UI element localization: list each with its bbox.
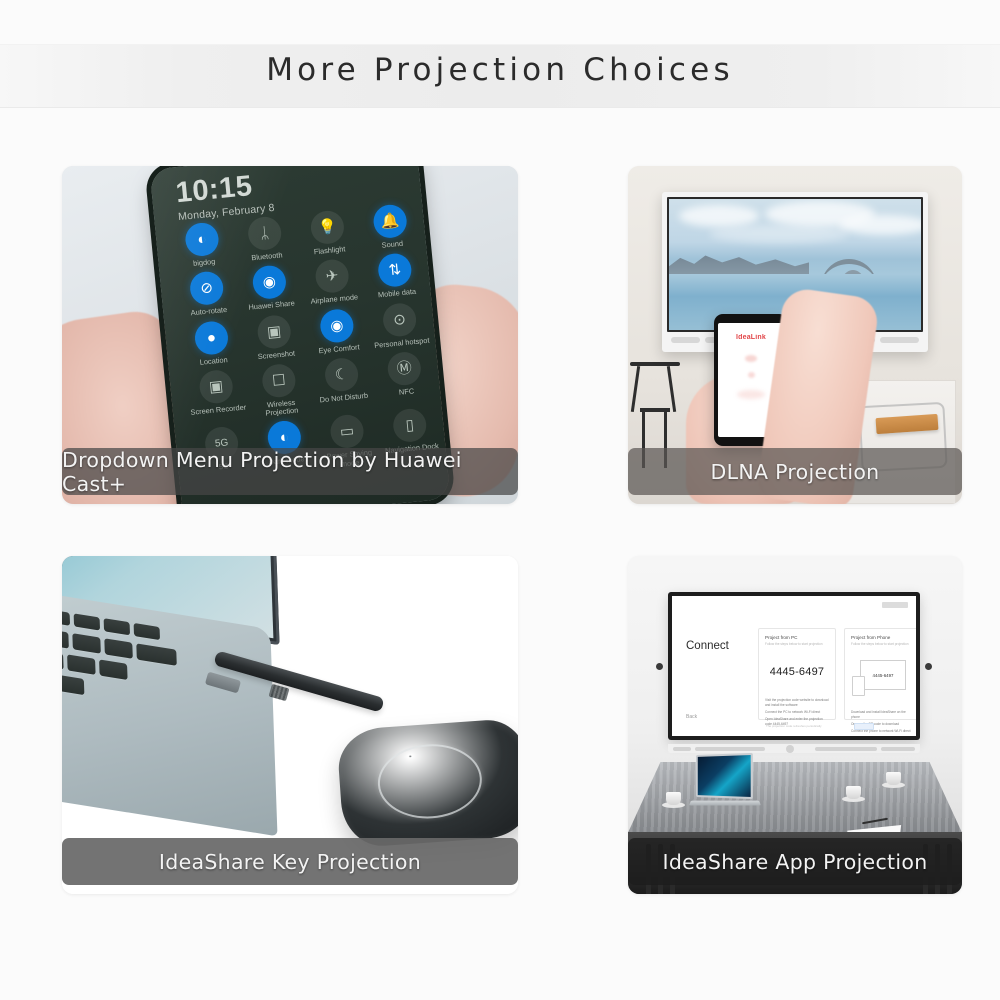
laptop-on-table	[694, 754, 762, 816]
toggle-label: Do Not Disturb	[315, 391, 374, 405]
ideashare-key-dongle[interactable]	[336, 718, 518, 849]
projection-code-diagram: 4445-6497	[860, 660, 906, 690]
toggle-label: Mobile data	[368, 287, 427, 301]
toggle-label: bigdog	[175, 256, 234, 270]
toggle-label: Auto-rotate	[180, 305, 239, 319]
step-item: Connect the phone to network Wi-Fi direc…	[851, 729, 915, 734]
app-content-blur	[737, 390, 765, 399]
flashlight-icon[interactable]: 💡	[309, 209, 345, 245]
hotspot-icon[interactable]: ⊙	[382, 301, 418, 337]
back-button[interactable]: Back	[686, 714, 697, 720]
quick-setting-toggle[interactable]: ▣ Screen Recorder	[183, 367, 251, 425]
interactive-flat-panel[interactable]: Connect Back Project from PC Follow the …	[668, 592, 920, 740]
connect-heading: Connect	[686, 640, 729, 652]
step-item: Connect the PC to network Wi-Fi direct	[765, 710, 829, 715]
panel-bottom-bar	[668, 744, 920, 753]
bluetooth-icon[interactable]: ᛦ	[247, 215, 283, 251]
quick-setting-toggle[interactable]: ▣ Screenshot	[241, 312, 308, 362]
diagram-code: 4445-6497	[873, 673, 894, 678]
quick-setting-toggle[interactable]: ◉ Eye Comfort	[304, 306, 371, 356]
toggle-label: Airplane mode	[305, 293, 364, 307]
screenshot-icon[interactable]: ▣	[256, 314, 292, 350]
quick-setting-toggle[interactable]: ⇅ Mobile data	[362, 251, 429, 301]
step-item: Download and install IdeaShare on the ph…	[851, 710, 915, 720]
toggle-label: NFC	[377, 385, 436, 399]
navigation-dock-icon[interactable]: ▯	[392, 408, 428, 444]
quick-setting-toggle[interactable]: ☐ Wireless Projection	[246, 361, 314, 419]
wireless-projection-icon[interactable]: ☐	[261, 363, 297, 399]
card-subtitle: Follow the steps below to start projecti…	[765, 642, 829, 646]
screen-recorder-icon[interactable]: ▣	[198, 369, 234, 405]
panel-side-knob-right[interactable]	[925, 663, 932, 670]
panel-ideashare-app-projection[interactable]: Connect Back Project from PC Follow the …	[628, 556, 962, 894]
nfc-icon[interactable]: Ⓜ	[386, 351, 422, 387]
quick-setting-toggle[interactable]: ⊙ Personal hotspot	[367, 300, 434, 350]
project-from-pc-card: Project from PC Follow the steps below t…	[758, 628, 836, 720]
toggle-label: Sound	[363, 238, 422, 252]
status-badge	[882, 602, 908, 608]
coffee-cup	[846, 786, 861, 799]
quick-settings-grid: ◐ bigdog ᛦ Bluetooth 💡 Flashlight 🔔 Soun…	[169, 202, 445, 483]
dongle-ring-button[interactable]	[375, 741, 484, 822]
panel-side-knob-left[interactable]	[656, 663, 663, 670]
app-logo: IdeaLink	[736, 334, 766, 341]
product-feature-page: More Projection Choices 10:15 Monday, Fe…	[0, 0, 1000, 1000]
toggle-label: Huawei Share	[242, 299, 301, 313]
connect-screen: Connect Back Project from PC Follow the …	[672, 596, 916, 736]
moon-icon[interactable]: ☾	[324, 357, 360, 393]
quick-setting-toggle[interactable]: ☾ Do Not Disturb	[309, 355, 377, 413]
toggle-label: Bluetooth	[238, 250, 297, 264]
toggle-label: Screenshot	[247, 348, 306, 362]
panel-ideashare-key-projection[interactable]: IdeaShare Key Projection	[62, 556, 518, 894]
location-pin-icon[interactable]: ●	[193, 320, 229, 356]
toggle-label: Eye Comfort	[310, 342, 369, 356]
airplane-icon[interactable]: ✈	[314, 258, 350, 294]
projection-code: 4445-6497	[765, 666, 829, 678]
coffee-cup	[886, 772, 901, 785]
toggle-label: Flashlight	[300, 244, 359, 258]
card-title: Project from PC	[765, 635, 829, 640]
panel-dlna-projection[interactable]: IdeaLink DLNA Projection	[628, 166, 962, 504]
panel-dropdown-menu-projection[interactable]: 10:15 Monday, February 8 ◐ bigdog ᛦ Blue…	[62, 166, 518, 504]
mobile-data-icon[interactable]: ⇅	[377, 252, 413, 288]
quick-setting-toggle[interactable]: Ⓜ NFC	[371, 349, 439, 407]
app-content-blur	[745, 355, 757, 362]
refresh-footnote: The projection code refreshes periodical…	[766, 724, 822, 728]
auto-rotate-icon[interactable]: ⊘	[189, 271, 225, 307]
card-subtitle: Follow the steps below to start projecti…	[851, 642, 915, 646]
toggle-label: Location	[184, 354, 243, 368]
toggle-label: Screen Recorder	[189, 403, 248, 417]
quick-setting-toggle[interactable]: ◐ bigdog	[169, 220, 236, 270]
refresh-button[interactable]	[854, 723, 874, 730]
eye-icon[interactable]: ◉	[319, 307, 355, 343]
quick-setting-toggle[interactable]: ◉ Huawei Share	[236, 263, 303, 313]
panel-caption: DLNA Projection	[628, 448, 962, 495]
panel-caption: IdeaShare App Projection	[628, 838, 962, 885]
huawei-share-icon[interactable]: ◉	[251, 264, 287, 300]
card-title: Project from Phone	[851, 635, 915, 640]
phone-status-area: 10:15 Monday, February 8	[174, 168, 275, 223]
card-steps: Visit the projection code website to dow…	[765, 698, 829, 727]
bell-icon[interactable]: 🔔	[372, 203, 408, 239]
app-content-blur	[748, 372, 755, 378]
toggle-label: Wireless Projection	[252, 397, 311, 419]
coffee-cup	[666, 792, 681, 805]
battery-saver-icon[interactable]: ▭	[329, 414, 365, 450]
toggle-label: Personal hotspot	[373, 336, 432, 350]
quick-setting-toggle[interactable]: 🔔 Sound	[357, 202, 424, 252]
quick-setting-toggle[interactable]: 💡 Flashlight	[294, 208, 361, 258]
laptop-screen-aurora	[696, 753, 753, 799]
page-title: More Projection Choices	[0, 52, 1000, 88]
quick-setting-toggle[interactable]: ● Location	[178, 318, 245, 368]
panel-caption: Dropdown Menu Projection by Huawei Cast+	[62, 448, 518, 495]
project-from-phone-card: Project from Phone Follow the steps belo…	[844, 628, 916, 720]
quick-setting-toggle[interactable]: ᛦ Bluetooth	[232, 214, 299, 264]
wifi-icon[interactable]: ◐	[184, 221, 220, 257]
quick-setting-toggle[interactable]: ✈ Airplane mode	[299, 257, 366, 307]
quick-setting-toggle[interactable]: ⊘ Auto-rotate	[174, 269, 241, 319]
laptop-base	[689, 801, 761, 806]
step-item: Visit the projection code website to dow…	[765, 698, 829, 708]
panel-caption: IdeaShare Key Projection	[62, 838, 518, 885]
